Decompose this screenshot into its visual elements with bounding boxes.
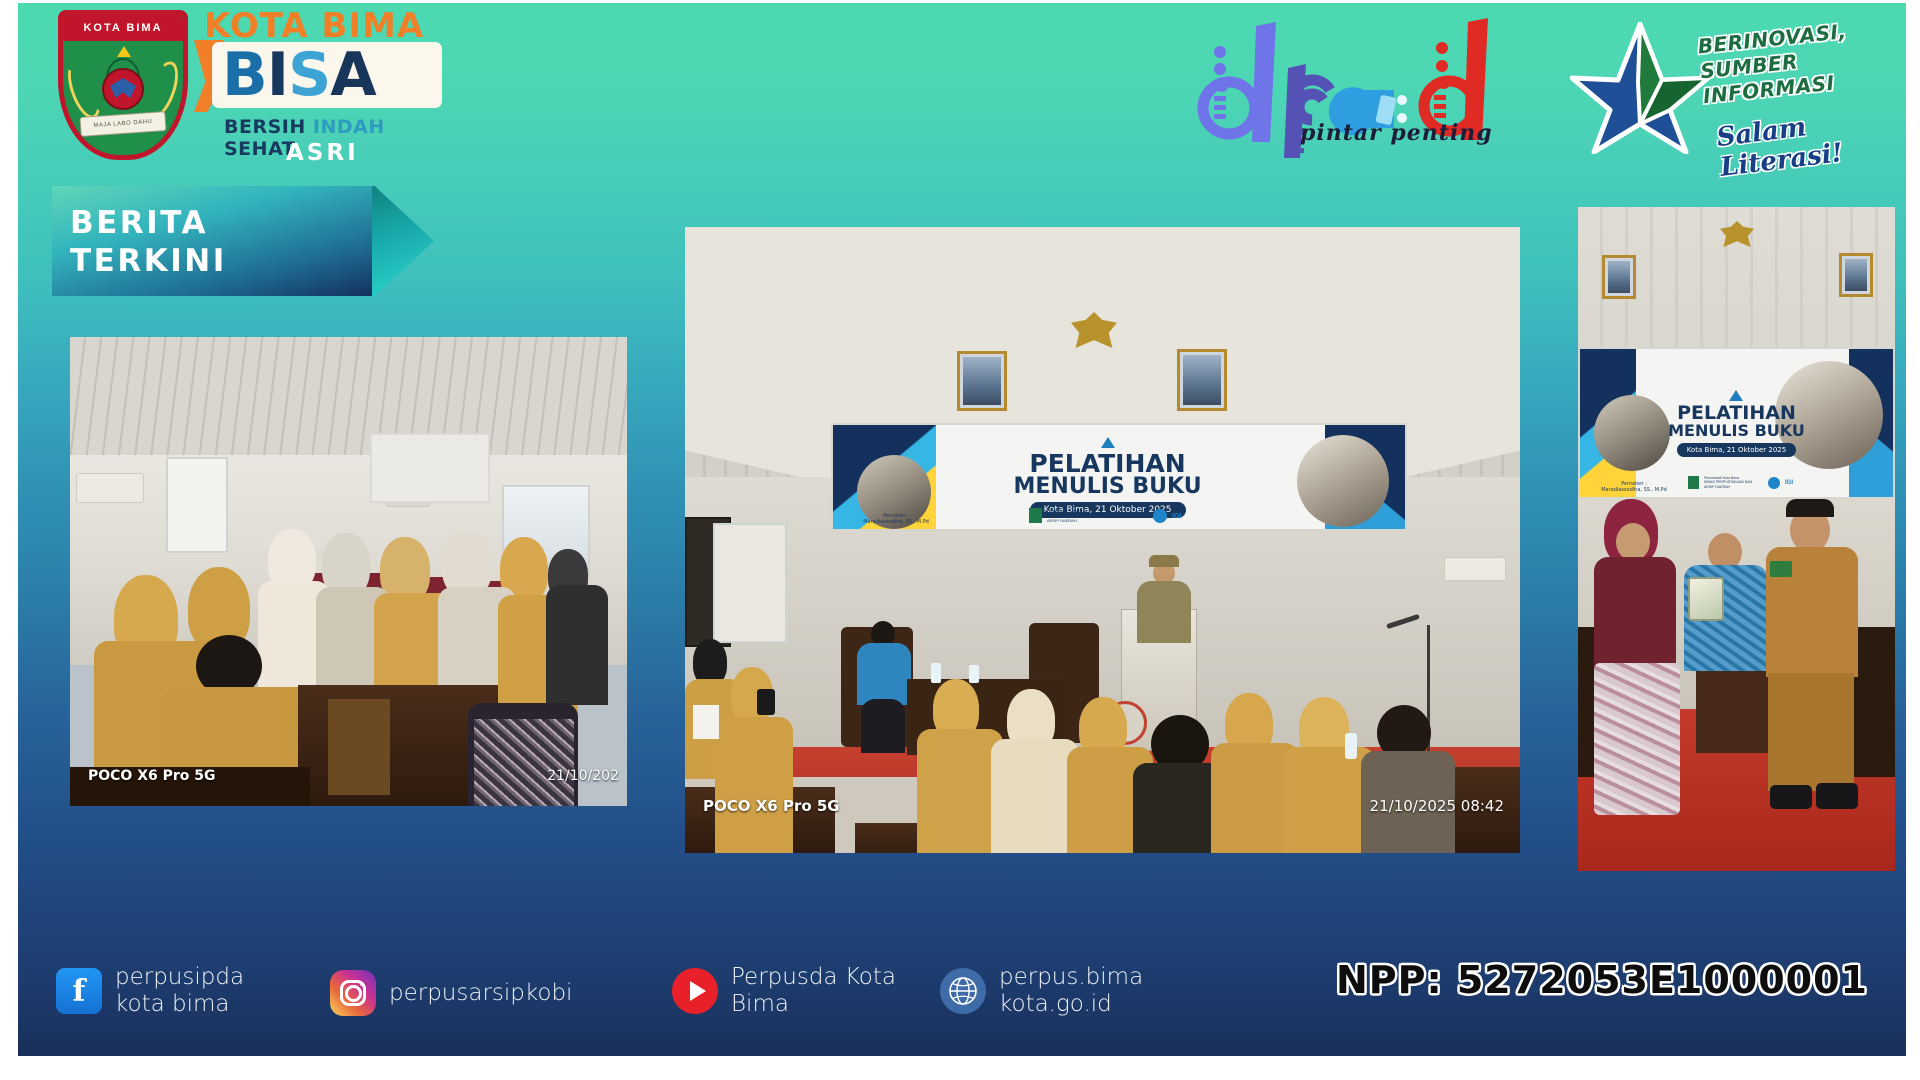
portrait-frame-right — [1177, 349, 1227, 411]
uniform-patch — [1770, 561, 1792, 577]
water-bottle — [969, 665, 979, 683]
water-bottle — [931, 663, 941, 683]
photo-center-hall[interactable]: PELATIHAN MENULIS BUKU Kota Bima, 21 Okt… — [685, 227, 1520, 853]
ribbon-line-2: TERKINI — [70, 243, 227, 279]
kota-bima-bisa-wordmark: KOTA BIMA BISA BERSIH INDAH SEHAT ASRI — [190, 4, 460, 164]
photo-right-handover[interactable]: PELATIHAN MENULIS BUKU Kota Bima, 21 Okt… — [1578, 207, 1895, 871]
banner-title-line1: PELATIHAN — [1029, 451, 1185, 476]
youtube-handle: Perpusda Kota Bima — [731, 964, 896, 1018]
subtitle-sehat: SEHAT — [224, 138, 295, 160]
banner-date: Kota Bima, 21 Oktober 2025 — [1677, 443, 1796, 457]
star-logo-text: BERINOVASI, SUMBER INFORMASI — [1697, 14, 1904, 109]
poster-header: KOTA BIMA MAJA LABO DAHU KOTA BIMA BISA … — [0, 0, 1920, 172]
batik-pattern — [474, 719, 574, 806]
banner-core: PELATIHAN MENULIS BUKU Kota Bima, 21 Okt… — [947, 425, 1267, 529]
dpad-star-logo: BERINOVASI, SUMBER INFORMASI Salam Liter… — [1570, 6, 1900, 166]
watermark-device: POCO X6 Pro 5G — [703, 797, 840, 815]
banner-partner-logo: IGI — [1153, 509, 1181, 523]
website-url: perpus.bima kota.go.id — [999, 964, 1143, 1018]
youtube-icon[interactable] — [672, 968, 718, 1014]
banner-star-icon — [1729, 390, 1743, 401]
shoe — [1770, 785, 1812, 809]
crest-band-label: KOTA BIMA — [63, 15, 183, 41]
ceiling — [70, 337, 627, 455]
frame-edge-right — [1906, 0, 1920, 1080]
banner-writing-photo — [1297, 435, 1389, 527]
partner-logo-icon — [1153, 509, 1167, 523]
portrait-frame-left — [1602, 255, 1636, 299]
org-line-2: DINAS PERPUSTAKAAN DAN — [1704, 480, 1752, 485]
partner-name: IGI — [1172, 513, 1181, 520]
watermark-date: 21/10/2025 08:42 — [1370, 797, 1504, 815]
social-youtube[interactable]: Perpusda Kota Bima — [672, 964, 896, 1018]
banner-org-logos: Pemerintah Kota Bima DINAS PERPUSTAKAAN … — [1688, 476, 1752, 490]
person-right-trousers — [1768, 673, 1854, 791]
wordmark-bisa: BISA — [222, 40, 376, 110]
attendee-body — [991, 739, 1079, 853]
berita-terkini-ribbon: BERITA TERKINI — [52, 186, 434, 296]
kota-bima-coat-of-arms-icon: KOTA BIMA MAJA LABO DAHU — [58, 10, 188, 160]
banner-title-line2: MENULIS BUKU — [1014, 476, 1202, 498]
banner-speaker-caption: Pemateri : Maradiassodiha, SS., M.Pd — [857, 513, 935, 525]
shoe — [1816, 783, 1858, 809]
guest-body-batik — [857, 643, 911, 705]
person-left-face — [1616, 523, 1650, 561]
phone — [757, 689, 775, 715]
event-banner: PELATIHAN MENULIS BUKU Kota Bima, 21 Okt… — [831, 423, 1407, 531]
facebook-icon[interactable]: f — [56, 968, 102, 1014]
event-banner: PELATIHAN MENULIS BUKU Kota Bima, 21 Okt… — [1578, 347, 1895, 499]
banner-title-line1: PELATIHAN — [1677, 404, 1796, 423]
instagram-handle: perpusarsipkobi — [389, 980, 572, 1007]
paper-sheet — [693, 705, 719, 739]
speaker-cap — [1149, 555, 1179, 567]
facebook-handle: perpusipda kota bima — [115, 964, 244, 1018]
banner-star-icon — [1101, 437, 1115, 448]
banner-speaker-caption: Pemateri : Maradiassodiha, SS., M.Pd — [1594, 481, 1674, 493]
salam-literasi-slogan: Salam Literasi! — [1715, 101, 1903, 183]
frame-edge-left — [0, 0, 18, 1080]
person-left-top — [1594, 557, 1676, 669]
partner-name: IGI — [1785, 480, 1793, 486]
water-bottle — [1345, 733, 1357, 759]
bench-carving — [328, 699, 390, 795]
wordmark-asri: ASRI — [286, 140, 359, 166]
banner-org-logos: Pemerintah Kota Bima DINAS PERPUSTAKAAN … — [1029, 508, 1102, 523]
crest-star-icon — [117, 46, 131, 57]
handover-certificate — [1688, 577, 1724, 621]
subtitle-indah: INDAH — [313, 116, 385, 138]
ac-unit — [1444, 557, 1506, 581]
watermark-date: 21/10/202 — [547, 768, 619, 784]
ac-unit — [76, 473, 144, 503]
ribbon-label: BERITA TERKINI — [70, 204, 227, 280]
wall-pillar — [166, 457, 228, 553]
banner-org-text: Pemerintah Kota Bima DINAS PERPUSTAKAAN … — [1047, 508, 1102, 523]
social-instagram[interactable]: perpusarsipkobi — [330, 970, 572, 1016]
social-website[interactable]: perpus.bima kota.go.id — [940, 964, 1143, 1018]
frame-edge-bottom — [0, 1056, 1920, 1080]
ribbon-line-1: BERITA — [70, 205, 208, 241]
person-left-skirt — [1594, 663, 1680, 815]
govt-crest-icon — [1029, 508, 1042, 523]
poster-footer: f perpusipda kota bima perpusarsipkobi P… — [0, 936, 1920, 1056]
banner-title-line2: MENULIS BUKU — [1668, 423, 1805, 439]
globe-icon[interactable] — [940, 968, 986, 1014]
frame-edge-top — [0, 0, 1920, 3]
dpad-tagline: pintar penting — [1300, 120, 1493, 146]
watermark-device: POCO X6 Pro 5G — [88, 768, 216, 784]
instagram-icon[interactable] — [330, 970, 376, 1016]
npp-number: NPP: 5272053E1000001 — [1336, 958, 1868, 1002]
banner-partner-logo: IGI — [1768, 477, 1793, 489]
portrait-frame-right — [1839, 253, 1873, 297]
whiteboard — [713, 523, 787, 643]
speaker-body — [1137, 581, 1191, 643]
star-icon — [1570, 22, 1710, 154]
attendee-body — [546, 585, 608, 705]
news-poster: KOTA BIMA MAJA LABO DAHU KOTA BIMA BISA … — [0, 0, 1920, 1080]
attendee-body — [715, 717, 793, 853]
partner-logo-icon — [1768, 477, 1780, 489]
guest-legs — [861, 699, 905, 753]
org-line-3: ARSIP DAERAH — [1047, 518, 1102, 523]
globe-glyph — [946, 974, 980, 1008]
dpad-logo: pintar penting — [1196, 12, 1496, 158]
banner-org-text: Pemerintah Kota Bima DINAS PERPUSTAKAAN … — [1704, 476, 1752, 490]
photo-left-audience[interactable]: POCO X6 Pro 5G 21/10/202 — [70, 337, 627, 806]
wall-panel — [370, 433, 490, 503]
social-facebook[interactable]: f perpusipda kota bima — [56, 964, 244, 1018]
person-right-hair — [1786, 499, 1834, 517]
banner-speaker-name: Maradiassodiha, SS., M.Pd — [857, 519, 935, 525]
portrait-frame-left — [957, 351, 1007, 411]
banner-speaker-name: Maradiassodiha, SS., M.Pd — [1594, 487, 1674, 493]
org-line-3: ARSIP DAERAH — [1704, 485, 1752, 490]
govt-crest-icon — [1688, 476, 1699, 489]
subtitle-bersih: BERSIH — [224, 116, 306, 138]
